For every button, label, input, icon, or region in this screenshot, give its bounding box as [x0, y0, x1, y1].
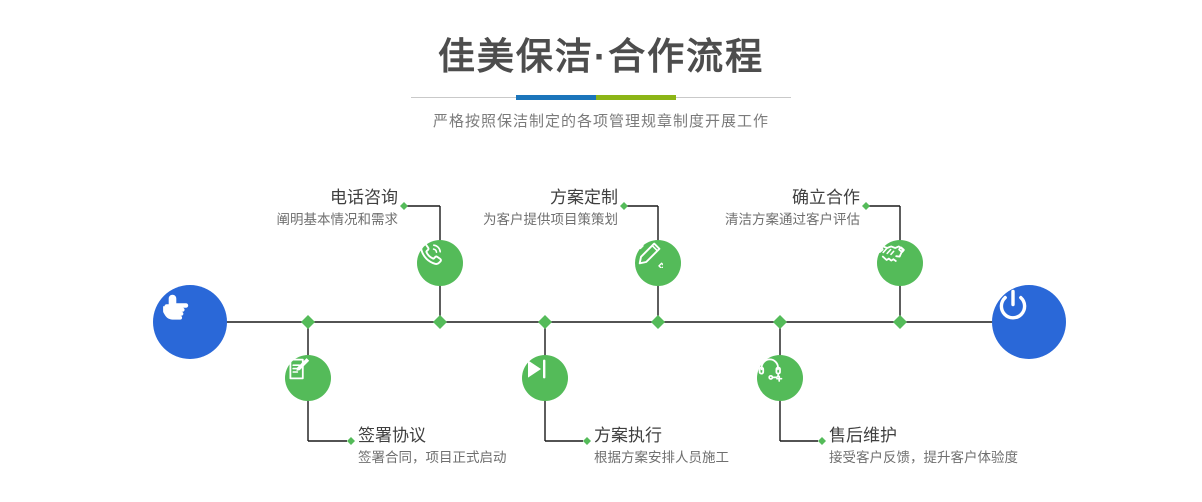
diamond-step-2-axis — [301, 315, 315, 329]
step-label-6: 售后维护 接受客户反馈，提升客户体验度 — [829, 425, 1109, 468]
step-title-5: 确立合作 — [610, 187, 860, 210]
step-desc-6: 接受客户反馈，提升客户体验度 — [829, 448, 1109, 468]
step-icon-phone-call[interactable] — [417, 240, 463, 286]
diamond-step-4-axis — [538, 315, 552, 329]
step-icon-handshake[interactable] — [877, 240, 923, 286]
step-label-4: 方案执行 根据方案安排人员施工 — [594, 425, 854, 468]
handshake-icon — [877, 240, 905, 268]
play-execute-icon — [522, 355, 550, 383]
power-button-icon — [992, 285, 1034, 327]
process-flow-diagram: 电话咨询 阐明基本情况和需求 方案定制 为客户提供项目策策划 确立合作 清洁方案… — [0, 0, 1202, 502]
step-label-1: 电话咨询 阐明基本情况和需求 — [148, 187, 398, 230]
pointing-hand-icon — [153, 285, 197, 329]
step-label-3: 方案定制 为客户提供项目策策划 — [368, 187, 618, 230]
step-desc-5: 清洁方案通过客户评估 — [610, 210, 860, 230]
step-title-2: 签署协议 — [358, 425, 618, 448]
step-label-5: 确立合作 清洁方案通过客户评估 — [610, 187, 860, 230]
diamond-step-3-axis — [651, 315, 665, 329]
pencil-design-icon — [635, 240, 663, 268]
document-edit-icon — [285, 355, 313, 383]
customer-service-icon — [757, 355, 785, 383]
step-title-1: 电话咨询 — [148, 187, 398, 210]
step-title-3: 方案定制 — [368, 187, 618, 210]
step-title-4: 方案执行 — [594, 425, 854, 448]
diamond-step-5-label — [862, 202, 870, 210]
phone-call-icon — [417, 240, 445, 268]
step-icon-play-execute[interactable] — [522, 355, 568, 401]
flow-end-node[interactable] — [992, 285, 1066, 359]
step-title-6: 售后维护 — [829, 425, 1109, 448]
step-icon-pencil-design[interactable] — [635, 240, 681, 286]
flow-start-node[interactable] — [153, 285, 227, 359]
step-label-2: 签署协议 签署合同，项目正式启动 — [358, 425, 618, 468]
diamond-step-6-axis — [773, 315, 787, 329]
step-desc-2: 签署合同，项目正式启动 — [358, 448, 618, 468]
diamond-step-1-axis — [433, 315, 447, 329]
diamond-step-5-axis — [893, 315, 907, 329]
step-desc-4: 根据方案安排人员施工 — [594, 448, 854, 468]
step-icon-document-edit[interactable] — [285, 355, 331, 401]
step-desc-3: 为客户提供项目策策划 — [368, 210, 618, 230]
diamond-step-2-label — [347, 437, 355, 445]
step-icon-customer-service[interactable] — [757, 355, 803, 401]
step-desc-1: 阐明基本情况和需求 — [148, 210, 398, 230]
